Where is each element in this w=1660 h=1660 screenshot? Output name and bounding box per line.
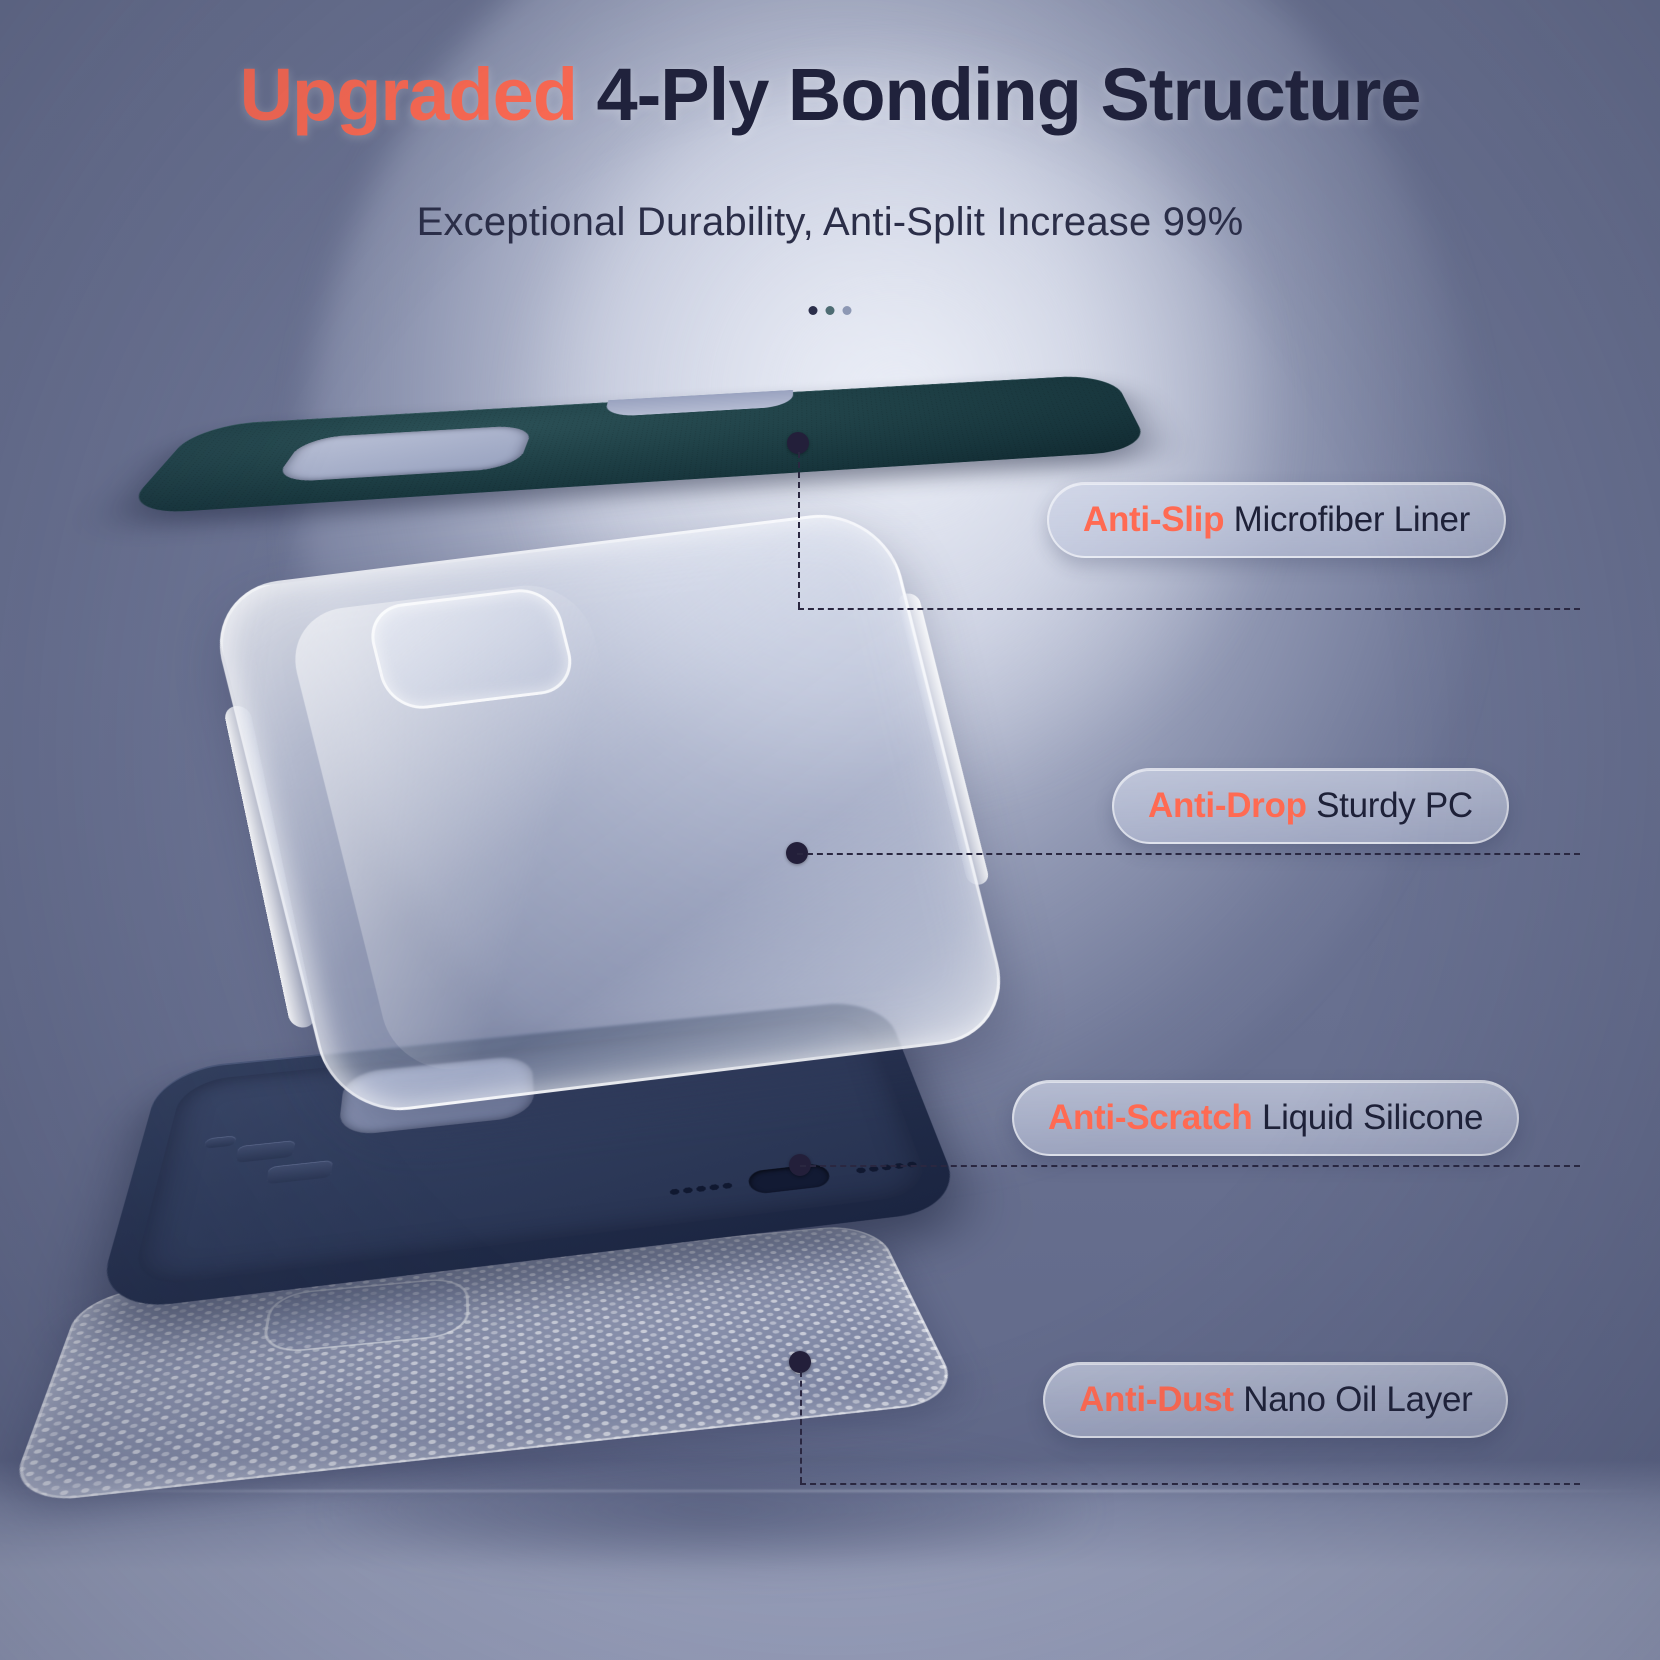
infographic-stage: Upgraded 4-Ply Bonding Structure Excepti…: [0, 0, 1660, 1660]
background-vignette: [0, 0, 1660, 1660]
